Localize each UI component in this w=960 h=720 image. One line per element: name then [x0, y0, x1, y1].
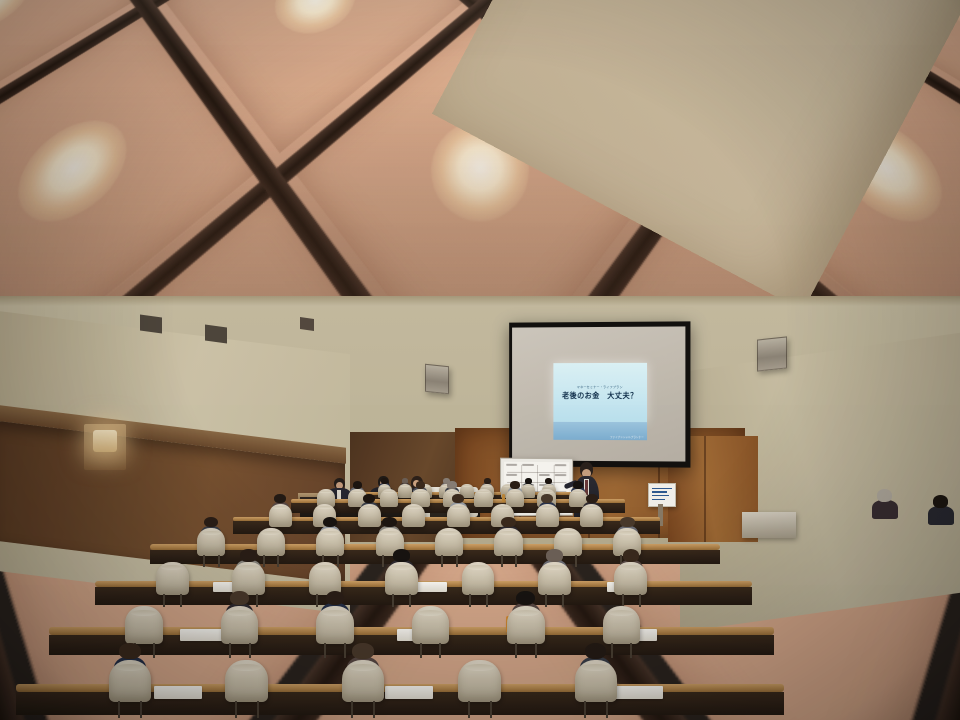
chair-backrest — [316, 528, 344, 556]
chair-headrest-detail — [618, 531, 637, 535]
audience-head — [546, 549, 563, 561]
chair-backrest — [380, 489, 399, 508]
chair-leg — [180, 594, 182, 607]
audience-head — [402, 478, 409, 483]
chair-leg — [456, 555, 458, 566]
audience-head — [352, 643, 373, 659]
audience-head — [274, 494, 286, 503]
handout-papers-on-desk — [154, 686, 202, 699]
audience-head — [382, 517, 396, 528]
chair-backrest — [580, 504, 603, 527]
chair-backrest — [309, 562, 342, 595]
chair-leg — [515, 555, 517, 566]
chair-backrest — [225, 660, 267, 702]
audience-head — [516, 591, 535, 605]
chair-headrest-detail — [572, 491, 585, 494]
chair-headrest-detail — [390, 565, 412, 570]
audience-head — [204, 517, 218, 528]
audience-seating-area — [0, 480, 960, 720]
chair-backrest — [109, 660, 151, 702]
chair-headrest-detail — [314, 565, 336, 570]
audience-chair — [380, 489, 399, 508]
chair-leg — [344, 643, 346, 658]
chair-backrest — [358, 504, 381, 527]
chair-backrest — [156, 562, 189, 595]
chair-headrest-detail — [380, 485, 389, 487]
chair-headrest-detail — [351, 491, 364, 494]
chair-headrest-detail — [439, 531, 458, 535]
chair-headrest-detail — [414, 491, 427, 494]
audience-chair — [494, 528, 522, 556]
audience-head — [541, 494, 553, 503]
projection-screen-surface: マネーセミナー・ライフプラン 老後のお金 大丈夫？ ファイナンシャルプランナー — [512, 326, 685, 461]
chair-backrest — [125, 606, 163, 644]
chair-backrest — [402, 504, 425, 527]
chair-leg — [229, 643, 231, 658]
audience-chair — [580, 504, 603, 527]
whiteboard-handwriting — [539, 474, 550, 476]
audience-head — [545, 478, 552, 483]
handout-papers-on-desk — [615, 686, 663, 699]
chair-headrest-detail — [540, 491, 553, 494]
audience-head — [416, 481, 425, 488]
audience-chair — [358, 504, 381, 527]
audience-head — [363, 494, 375, 503]
chair-leg — [249, 643, 251, 658]
audience-chair — [603, 606, 641, 644]
chair-leg — [584, 701, 586, 718]
chair-headrest-detail — [319, 491, 332, 494]
audience-chair — [225, 660, 267, 702]
audience-head — [484, 478, 491, 483]
presentation-slide: マネーセミナー・ライフプラン 老後のお金 大丈夫？ — [553, 363, 647, 422]
chair-headrest-detail — [322, 610, 348, 616]
chair-headrest-detail — [202, 531, 221, 535]
audience-chair — [257, 528, 285, 556]
chair-headrest-detail — [581, 664, 610, 671]
chair-leg — [441, 555, 443, 566]
audience-chair — [538, 562, 571, 595]
chair-backrest — [342, 660, 384, 702]
audience-chair — [398, 484, 412, 498]
audience-head — [381, 478, 388, 483]
ceiling-speaker-a — [140, 314, 162, 333]
chair-headrest-detail — [237, 565, 259, 570]
chair-leg — [218, 555, 220, 566]
whiteboard-handwriting — [555, 464, 566, 466]
chair-backrest — [538, 562, 571, 595]
chair-backrest — [398, 484, 412, 498]
chair-headrest-detail — [406, 506, 422, 510]
chair-headrest-detail — [495, 506, 511, 510]
chair-backrest — [458, 660, 500, 702]
chair-leg — [501, 555, 503, 566]
chair-leg — [118, 701, 120, 718]
chair-leg — [575, 555, 577, 566]
audience-chair — [575, 660, 617, 702]
chair-leg — [469, 594, 471, 607]
audience-chair — [109, 660, 151, 702]
chair-headrest-detail — [609, 610, 635, 616]
wall-speaker-right — [757, 336, 787, 371]
audience-head — [623, 549, 640, 561]
audience-chair — [462, 562, 495, 595]
chair-headrest-detail — [513, 610, 539, 616]
chair-headrest-detail — [272, 506, 288, 510]
chair-headrest-detail — [161, 565, 183, 570]
chair-leg — [373, 701, 375, 718]
chair-headrest-detail — [361, 506, 377, 510]
chair-headrest-detail — [349, 664, 378, 671]
chair-headrest-detail — [261, 531, 280, 535]
chair-leg — [163, 594, 165, 607]
chair-backrest — [474, 489, 493, 508]
slide-subtitle: マネーセミナー・ライフプラン — [577, 384, 623, 389]
chair-leg — [439, 643, 441, 658]
chair-backrest — [197, 528, 225, 556]
audience-head — [510, 481, 519, 488]
chair-headrest-detail — [539, 506, 555, 510]
chair-headrest-detail — [317, 506, 333, 510]
chair-leg — [392, 594, 394, 607]
chair-backrest — [316, 606, 354, 644]
whiteboard-handwriting — [523, 464, 534, 466]
audience-head — [452, 494, 464, 503]
chair-headrest-detail — [620, 565, 642, 570]
audience-head — [525, 478, 532, 483]
audience-chair — [614, 562, 647, 595]
back-row-attendee — [928, 495, 954, 525]
chair-leg — [140, 701, 142, 718]
audience-chair — [385, 562, 418, 595]
chair-headrest-detail — [227, 610, 253, 616]
audience-head — [501, 517, 515, 528]
chair-headrest-detail — [524, 485, 533, 487]
chair-headrest-detail — [400, 485, 409, 487]
chair-headrest-detail — [467, 565, 489, 570]
audience-chair — [507, 606, 545, 644]
chair-headrest-detail — [446, 491, 459, 494]
chair-leg — [630, 643, 632, 658]
whiteboard-handwriting — [506, 464, 517, 466]
audience-head — [620, 517, 634, 528]
audience-head — [447, 481, 456, 488]
chair-leg — [382, 555, 384, 566]
audience-chair — [412, 606, 450, 644]
audience-chair — [156, 562, 189, 595]
whiteboard-handwriting — [506, 474, 517, 476]
chair-leg — [351, 701, 353, 718]
chair-backrest — [269, 504, 292, 527]
lecture-hall-photo: マネーセミナー・ライフプラン 老後のお金 大丈夫？ ファイナンシャルプランナー — [0, 0, 960, 720]
wall-speaker-left — [425, 364, 449, 395]
audience-chair — [125, 606, 163, 644]
chair-leg — [545, 594, 547, 607]
chair-leg — [606, 701, 608, 718]
slide-footer-band: ファイナンシャルプランナー — [553, 422, 647, 440]
chair-headrest-detail — [509, 491, 522, 494]
audience-chair — [342, 660, 384, 702]
projection-screen: マネーセミナー・ライフプラン 老後のお金 大丈夫？ ファイナンシャルプランナー — [509, 321, 690, 467]
chair-headrest-detail — [380, 531, 399, 535]
chair-leg — [515, 643, 517, 658]
chair-headrest-detail — [477, 491, 490, 494]
chair-headrest-detail — [482, 485, 491, 487]
chair-leg — [277, 555, 279, 566]
ceiling-speaker-b — [205, 324, 227, 343]
handout-papers-on-desk — [180, 629, 223, 640]
chair-backrest — [435, 528, 463, 556]
audience-head — [353, 481, 362, 488]
chair-leg — [468, 701, 470, 718]
chair-leg — [486, 594, 488, 607]
audience-chair — [316, 606, 354, 644]
chair-backrest — [536, 504, 559, 527]
chair-headrest-detail — [499, 531, 518, 535]
audience-chair — [435, 528, 463, 556]
audience-chair — [309, 562, 342, 595]
audience-torso — [872, 500, 898, 519]
chair-backrest — [614, 562, 647, 595]
chair-backrest — [385, 562, 418, 595]
slide-credit: ファイナンシャルプランナー — [610, 435, 644, 439]
chair-leg — [562, 594, 564, 607]
chair-leg — [420, 643, 422, 658]
chair-leg — [203, 555, 205, 566]
chair-headrest-detail — [116, 664, 145, 671]
audience-chair — [269, 504, 292, 527]
chair-leg — [257, 701, 259, 718]
chair-backrest — [494, 528, 522, 556]
chair-backrest — [232, 562, 265, 595]
audience-chair — [232, 562, 265, 595]
chair-headrest-detail — [321, 531, 340, 535]
audience-head — [573, 481, 582, 488]
chair-backrest — [221, 606, 259, 644]
chair-backrest — [257, 528, 285, 556]
chair-leg — [235, 701, 237, 718]
chair-headrest-detail — [418, 610, 444, 616]
chair-headrest-detail — [131, 610, 157, 616]
audience-head — [230, 591, 249, 605]
chair-headrest-detail — [232, 664, 261, 671]
slide-title: 老後のお金 大丈夫？ — [562, 391, 638, 401]
chair-leg — [153, 643, 155, 658]
chair-headrest-detail — [465, 664, 494, 671]
chair-backrest — [412, 606, 450, 644]
wall-cornice — [0, 296, 960, 306]
audience-chair — [316, 528, 344, 556]
audience-head — [119, 643, 140, 659]
chair-headrest-detail — [462, 485, 471, 487]
chair-leg — [490, 701, 492, 718]
audience-chair — [458, 660, 500, 702]
chair-leg — [324, 643, 326, 658]
ceiling-speaker-c — [300, 317, 314, 331]
audience-chair — [536, 504, 559, 527]
audience-chair — [402, 504, 425, 527]
audience-head — [933, 495, 948, 508]
chair-backrest — [462, 562, 495, 595]
audience-head — [586, 494, 598, 503]
audience-chair — [474, 489, 493, 508]
chair-headrest-detail — [544, 485, 553, 487]
audience-chair — [221, 606, 259, 644]
chair-backrest — [507, 606, 545, 644]
wall-sconce-light — [93, 430, 117, 452]
audience-torso — [928, 506, 954, 525]
drink-bottle — [502, 494, 505, 502]
audience-head — [326, 591, 345, 605]
chair-backrest — [575, 660, 617, 702]
audience-chair — [197, 528, 225, 556]
handout-papers-on-desk — [385, 686, 433, 699]
audience-chair — [447, 504, 470, 527]
chair-backrest — [603, 606, 641, 644]
whiteboard-handwriting — [555, 474, 566, 476]
audience-head — [393, 549, 410, 561]
chair-headrest-detail — [584, 506, 600, 510]
chair-headrest-detail — [543, 565, 565, 570]
audience-head — [585, 643, 606, 659]
audience-head — [240, 549, 257, 561]
chair-headrest-detail — [558, 531, 577, 535]
chair-headrest-detail — [383, 491, 396, 494]
chair-backrest — [447, 504, 470, 527]
audience-head — [877, 489, 892, 502]
chair-leg — [535, 643, 537, 658]
back-row-attendee — [872, 489, 898, 519]
chair-headrest-detail — [450, 506, 466, 510]
audience-head — [323, 517, 337, 528]
